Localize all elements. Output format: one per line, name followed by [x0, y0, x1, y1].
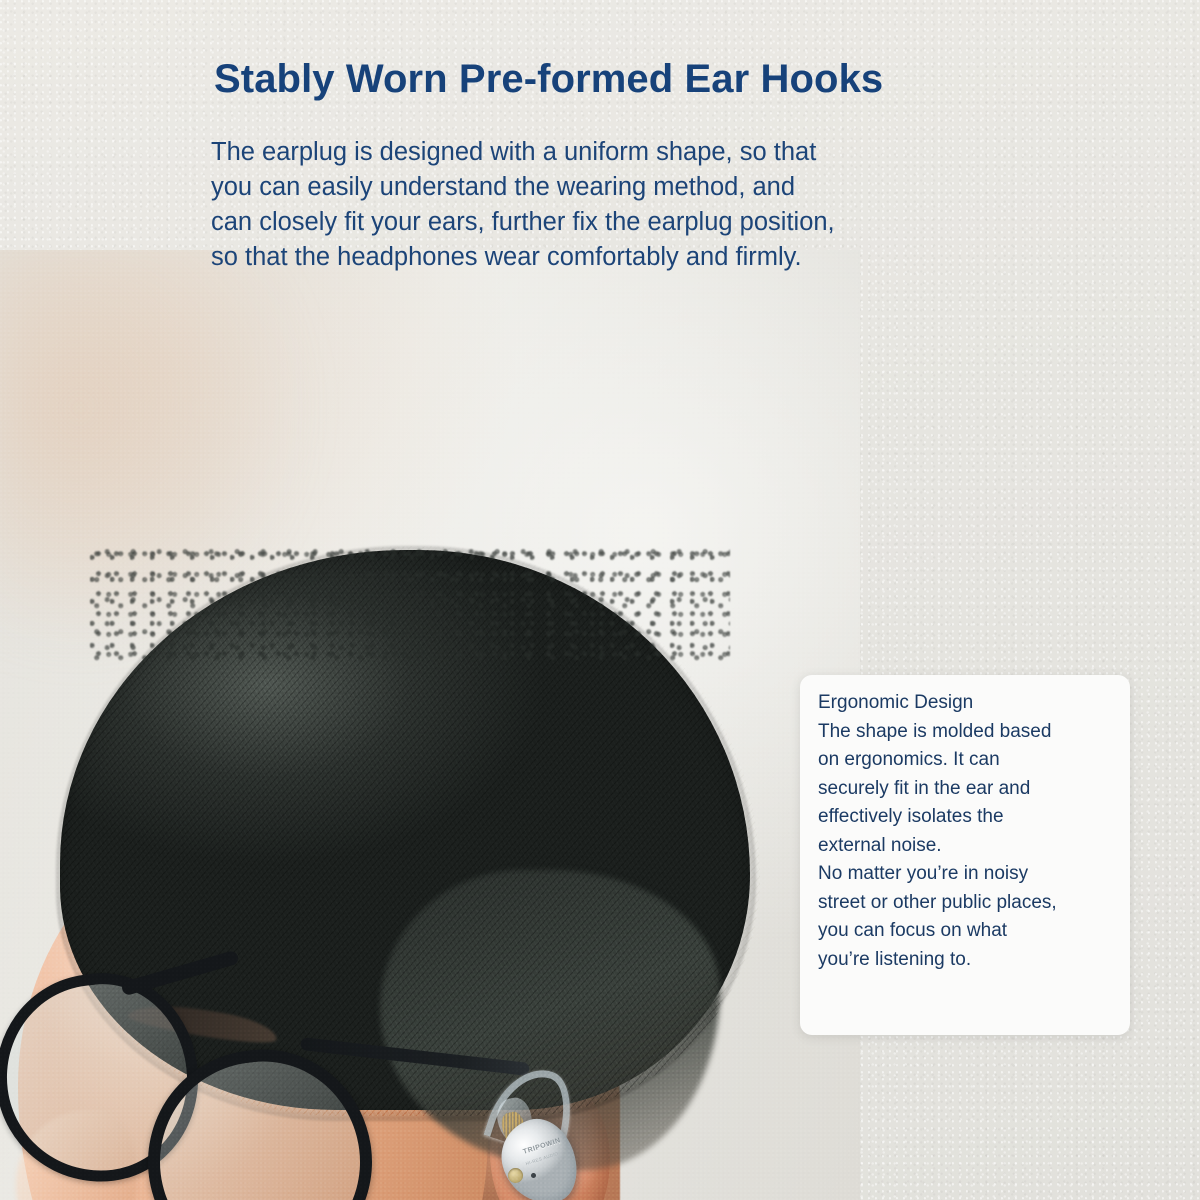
earphone-vent [508, 1168, 523, 1183]
ergonomic-design-card: Ergonomic Design The shape is molded bas… [800, 675, 1130, 1035]
card-line: on ergonomics. It can [818, 746, 1112, 775]
product-feature-page: TRIPOWIN HI-RES AUDIO Stably Worn Pre-fo… [0, 0, 1200, 1200]
card-line: you’re listening to. [818, 946, 1112, 975]
description-line: you can easily understand the wearing me… [211, 170, 1041, 205]
earphone-pinhole [531, 1173, 536, 1178]
card-line: you can focus on what [818, 917, 1112, 946]
description-line: so that the headphones wear comfortably … [211, 240, 1041, 275]
model-hair-wisps [90, 542, 730, 662]
page-title: Stably Worn Pre-formed Ear Hooks [214, 56, 1074, 102]
model-wearing-earphone-photo: TRIPOWIN HI-RES AUDIO [0, 250, 860, 1200]
page-description: The earplug is designed with a uniform s… [211, 135, 1041, 275]
card-line: securely fit in the ear and [818, 775, 1112, 804]
card-line: No matter you’re in noisy [818, 860, 1112, 889]
card-title: Ergonomic Design [818, 689, 1112, 718]
card-line: The shape is molded based [818, 718, 1112, 747]
description-line: The earplug is designed with a uniform s… [211, 135, 1041, 170]
card-line: external noise. [818, 832, 1112, 861]
card-line: street or other public places, [818, 889, 1112, 918]
description-line: can closely fit your ears, further fix t… [211, 205, 1041, 240]
card-line: effectively isolates the [818, 803, 1112, 832]
